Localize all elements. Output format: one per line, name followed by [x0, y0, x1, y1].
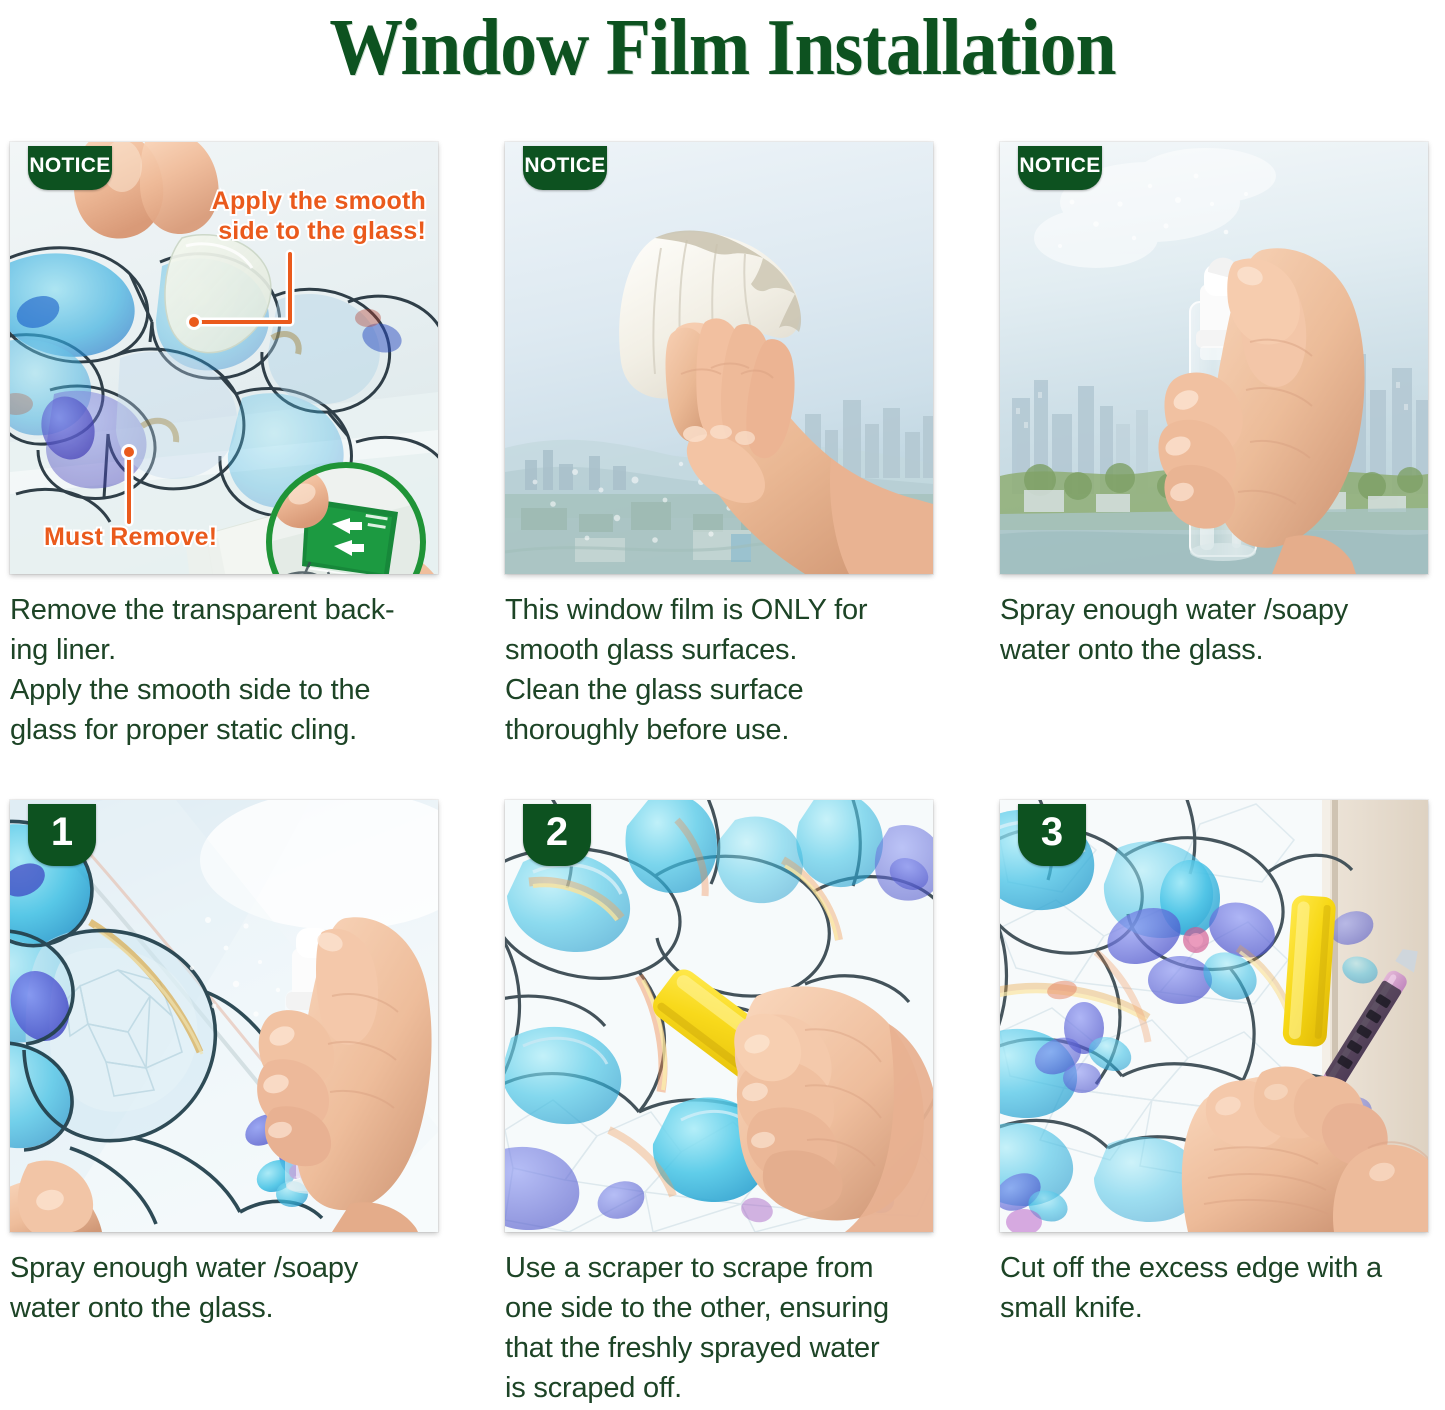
panel-step-2-scrape: 2 Use a scraper to scrape from one side … — [505, 800, 933, 1408]
infographic-page: Window Film Installation — [0, 0, 1445, 1410]
stained-glass-film-peel-photo: NOTICE Apply the smooth side to the glas… — [10, 142, 438, 574]
callout-leader-apply — [178, 250, 308, 345]
panel-remove-liner: NOTICE Apply the smooth side to the glas… — [10, 142, 438, 750]
panel-caption: This window film is ONLY for smooth glas… — [505, 590, 933, 750]
panel-caption: Remove the transparent back- ing liner. … — [10, 590, 438, 750]
callout-leader-remove — [114, 442, 144, 528]
panel-caption: Use a scraper to scrape from one side to… — [505, 1248, 933, 1408]
hand-wiping-glass-with-cloth-photo: NOTICE — [505, 142, 933, 574]
notice-badge: NOTICE — [523, 146, 607, 190]
yellow-scraper-on-film-photo: 2 — [505, 800, 933, 1232]
panel-caption: Spray enough water /soapy water onto the… — [10, 1248, 438, 1328]
panel-clean-glass: NOTICE This window film is ONLY for smoo… — [505, 142, 933, 750]
panel-step-1-spray: 1 Spray enough water /soapy water onto t… — [10, 800, 438, 1328]
cutting-film-edge-with-knife-photo: 3 — [1000, 800, 1428, 1232]
page-title: Window Film Installation — [58, 2, 1387, 94]
step-badge: 2 — [523, 804, 591, 866]
notice-badge: NOTICE — [1018, 146, 1102, 190]
panel-spray-water: NOTICE Spray enough water /soapy water o… — [1000, 142, 1428, 670]
hand-spraying-bottle-at-window-photo: NOTICE — [1000, 142, 1428, 574]
spraying-water-on-stained-glass-film-photo: 1 — [10, 800, 438, 1232]
panel-caption: Cut off the excess edge with a small kni… — [1000, 1248, 1428, 1328]
callout-must-remove: Must Remove! — [44, 522, 217, 552]
panel-caption: Spray enough water /soapy water onto the… — [1000, 590, 1428, 670]
callout-apply-smooth-side: Apply the smooth side to the glass! — [212, 186, 426, 246]
notice-badge: NOTICE — [28, 146, 112, 190]
panel-step-3-cut: 3 Cut off the excess edge with a small k… — [1000, 800, 1428, 1328]
step-badge: 1 — [28, 804, 96, 866]
step-badge: 3 — [1018, 804, 1086, 866]
